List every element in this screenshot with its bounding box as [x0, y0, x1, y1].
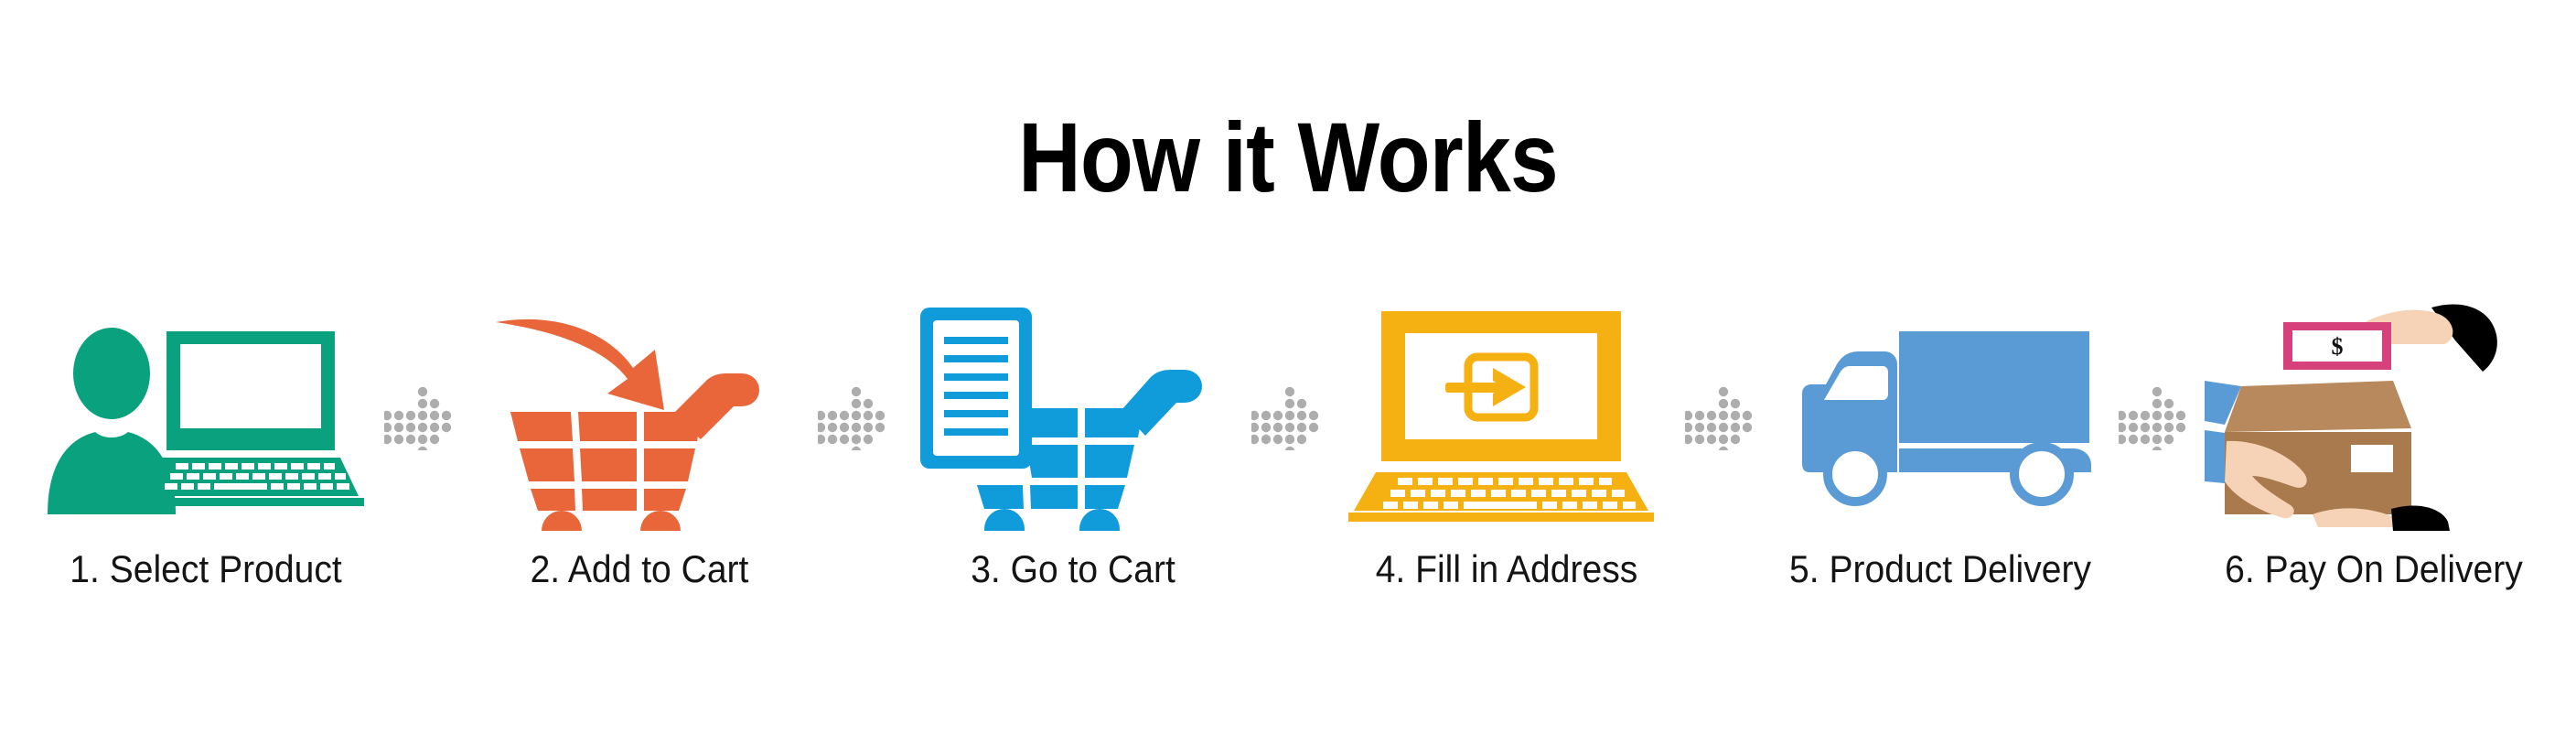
step-label: 3. Go to Cart	[916, 549, 1230, 589]
step-label: 4. Fill in Address	[1349, 549, 1664, 589]
banknote-dollar-symbol: $	[2332, 333, 2344, 360]
cart-with-arrow-icon	[470, 302, 809, 531]
step-label: 5. Product Delivery	[1783, 549, 2098, 589]
steps-row: 1. Select Product	[37, 302, 2543, 632]
step-label: 2. Add to Cart	[482, 549, 797, 589]
dotted-arrow-right-icon	[1246, 302, 1334, 531]
page-title: How it Works	[155, 108, 2421, 207]
laptop-login-icon	[1337, 302, 1676, 531]
hands-exchange-box-and-cash-icon: $	[2205, 302, 2543, 531]
step-4-fill-in-address[interactable]: 4. Fill in Address	[1337, 302, 1676, 632]
infographic-page: How it Works	[0, 0, 2576, 745]
step-label: 1. Select Product	[48, 549, 363, 589]
dotted-arrow-right-icon	[2113, 302, 2201, 531]
step-2-add-to-cart[interactable]: 2. Add to Cart	[470, 302, 809, 632]
step-5-product-delivery[interactable]: 5. Product Delivery	[1771, 302, 2109, 632]
dotted-arrow-right-icon	[812, 302, 900, 531]
person-with-laptop-icon	[37, 302, 375, 531]
dotted-arrow-right-icon	[379, 302, 467, 531]
step-6-pay-on-delivery[interactable]: $ 6. Pay On Delivery	[2205, 302, 2543, 632]
dotted-arrow-right-icon	[1680, 302, 1767, 531]
step-label: 6. Pay On Delivery	[2216, 549, 2531, 589]
document-with-cart-icon	[904, 302, 1242, 531]
step-1-select-product[interactable]: 1. Select Product	[37, 302, 375, 632]
delivery-truck-icon	[1771, 302, 2109, 531]
step-3-go-to-cart[interactable]: 3. Go to Cart	[904, 302, 1242, 632]
